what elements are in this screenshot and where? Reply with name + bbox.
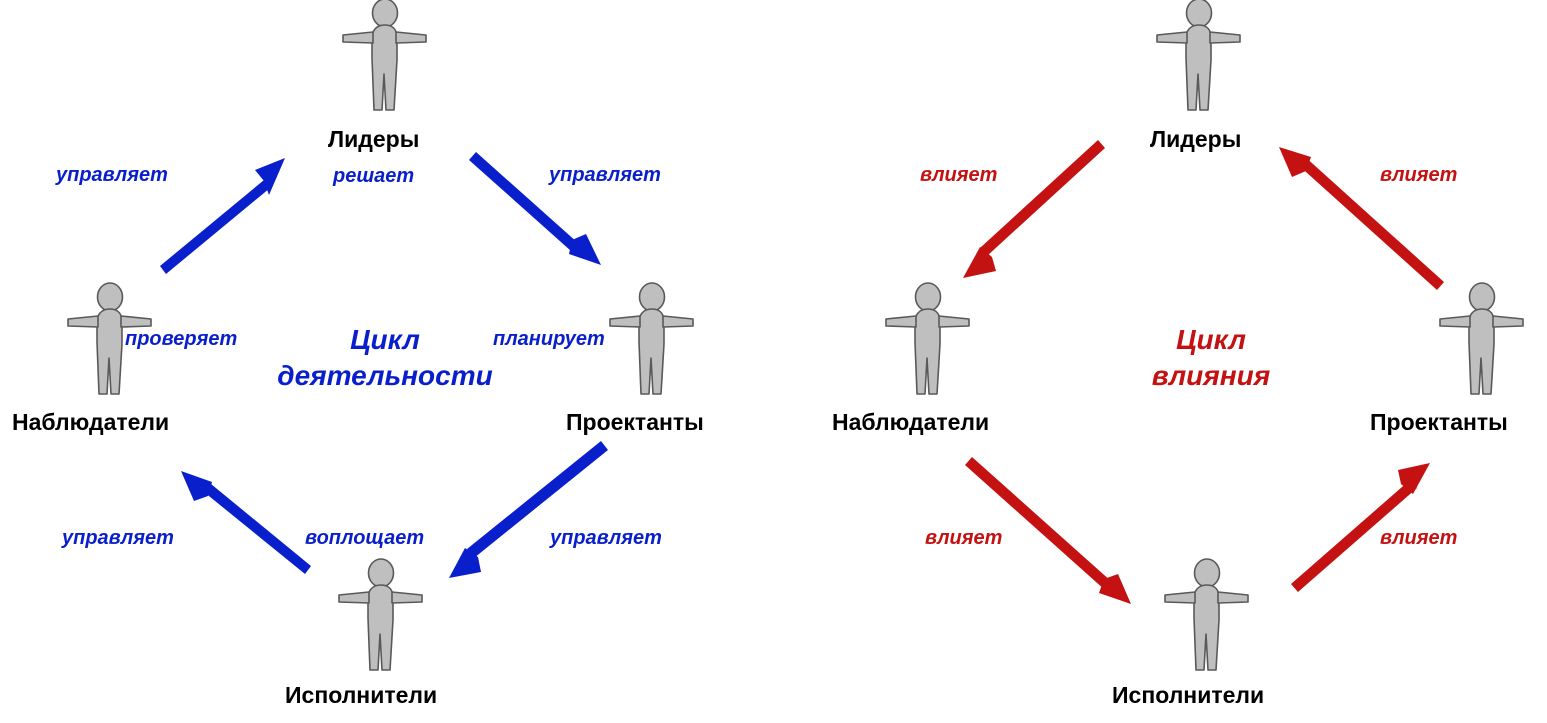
node-label-leaders: Лидеры <box>328 126 419 153</box>
person-icon-performers <box>333 558 429 676</box>
node-label-leaders: Лидеры <box>1150 126 1241 153</box>
edge-label-leaders-to-designers: управляет <box>549 164 661 187</box>
node-label-observers: Наблюдатели <box>832 409 989 436</box>
node-label-designers: Проектанты <box>1370 409 1508 436</box>
person-icon-leaders <box>337 0 433 116</box>
node-label-designers: Проектанты <box>566 409 704 436</box>
person-icon-observers <box>880 282 976 400</box>
cycle-title-activity: Цикл деятельности <box>252 322 518 394</box>
arrow-performers-to-observers <box>181 471 311 574</box>
edge-label-performers-embodies: воплощает <box>305 527 424 550</box>
person-icon-designers <box>1434 282 1530 400</box>
edge-label-designers-to-performers: управляет <box>550 527 662 550</box>
cycle-title-influence: Цикл влияния <box>1078 322 1344 394</box>
diagram-canvas: Лидеры Проектанты Исполнители Наблюдател… <box>0 0 1547 723</box>
arrow-leaders-to-observers <box>963 140 1105 278</box>
person-icon-leaders <box>1151 0 1247 116</box>
person-icon-performers <box>1159 558 1255 676</box>
arrow-observers-to-leaders <box>160 158 285 274</box>
node-label-performers: Исполнители <box>1112 682 1264 709</box>
edge-label-designers-to-leaders: влияет <box>1380 164 1457 187</box>
edge-label-performers-to-observers: управляет <box>62 527 174 550</box>
edge-label-observers-to-leaders: управляет <box>56 164 168 187</box>
edge-label-performers-to-designers: влияет <box>1380 527 1457 550</box>
arrow-designers-to-performers <box>449 441 608 578</box>
edge-label-observers-checks: проверяет <box>125 328 237 351</box>
edge-label-observers-to-performers: влияет <box>925 527 1002 550</box>
edge-label-designers-plans: планирует <box>493 328 605 351</box>
node-label-observers: Наблюдатели <box>12 409 169 436</box>
edge-label-leaders-decides: решает <box>333 165 414 188</box>
edge-label-leaders-to-observers: влияет <box>920 164 997 187</box>
node-label-performers: Исполнители <box>285 682 437 709</box>
person-icon-designers <box>604 282 700 400</box>
